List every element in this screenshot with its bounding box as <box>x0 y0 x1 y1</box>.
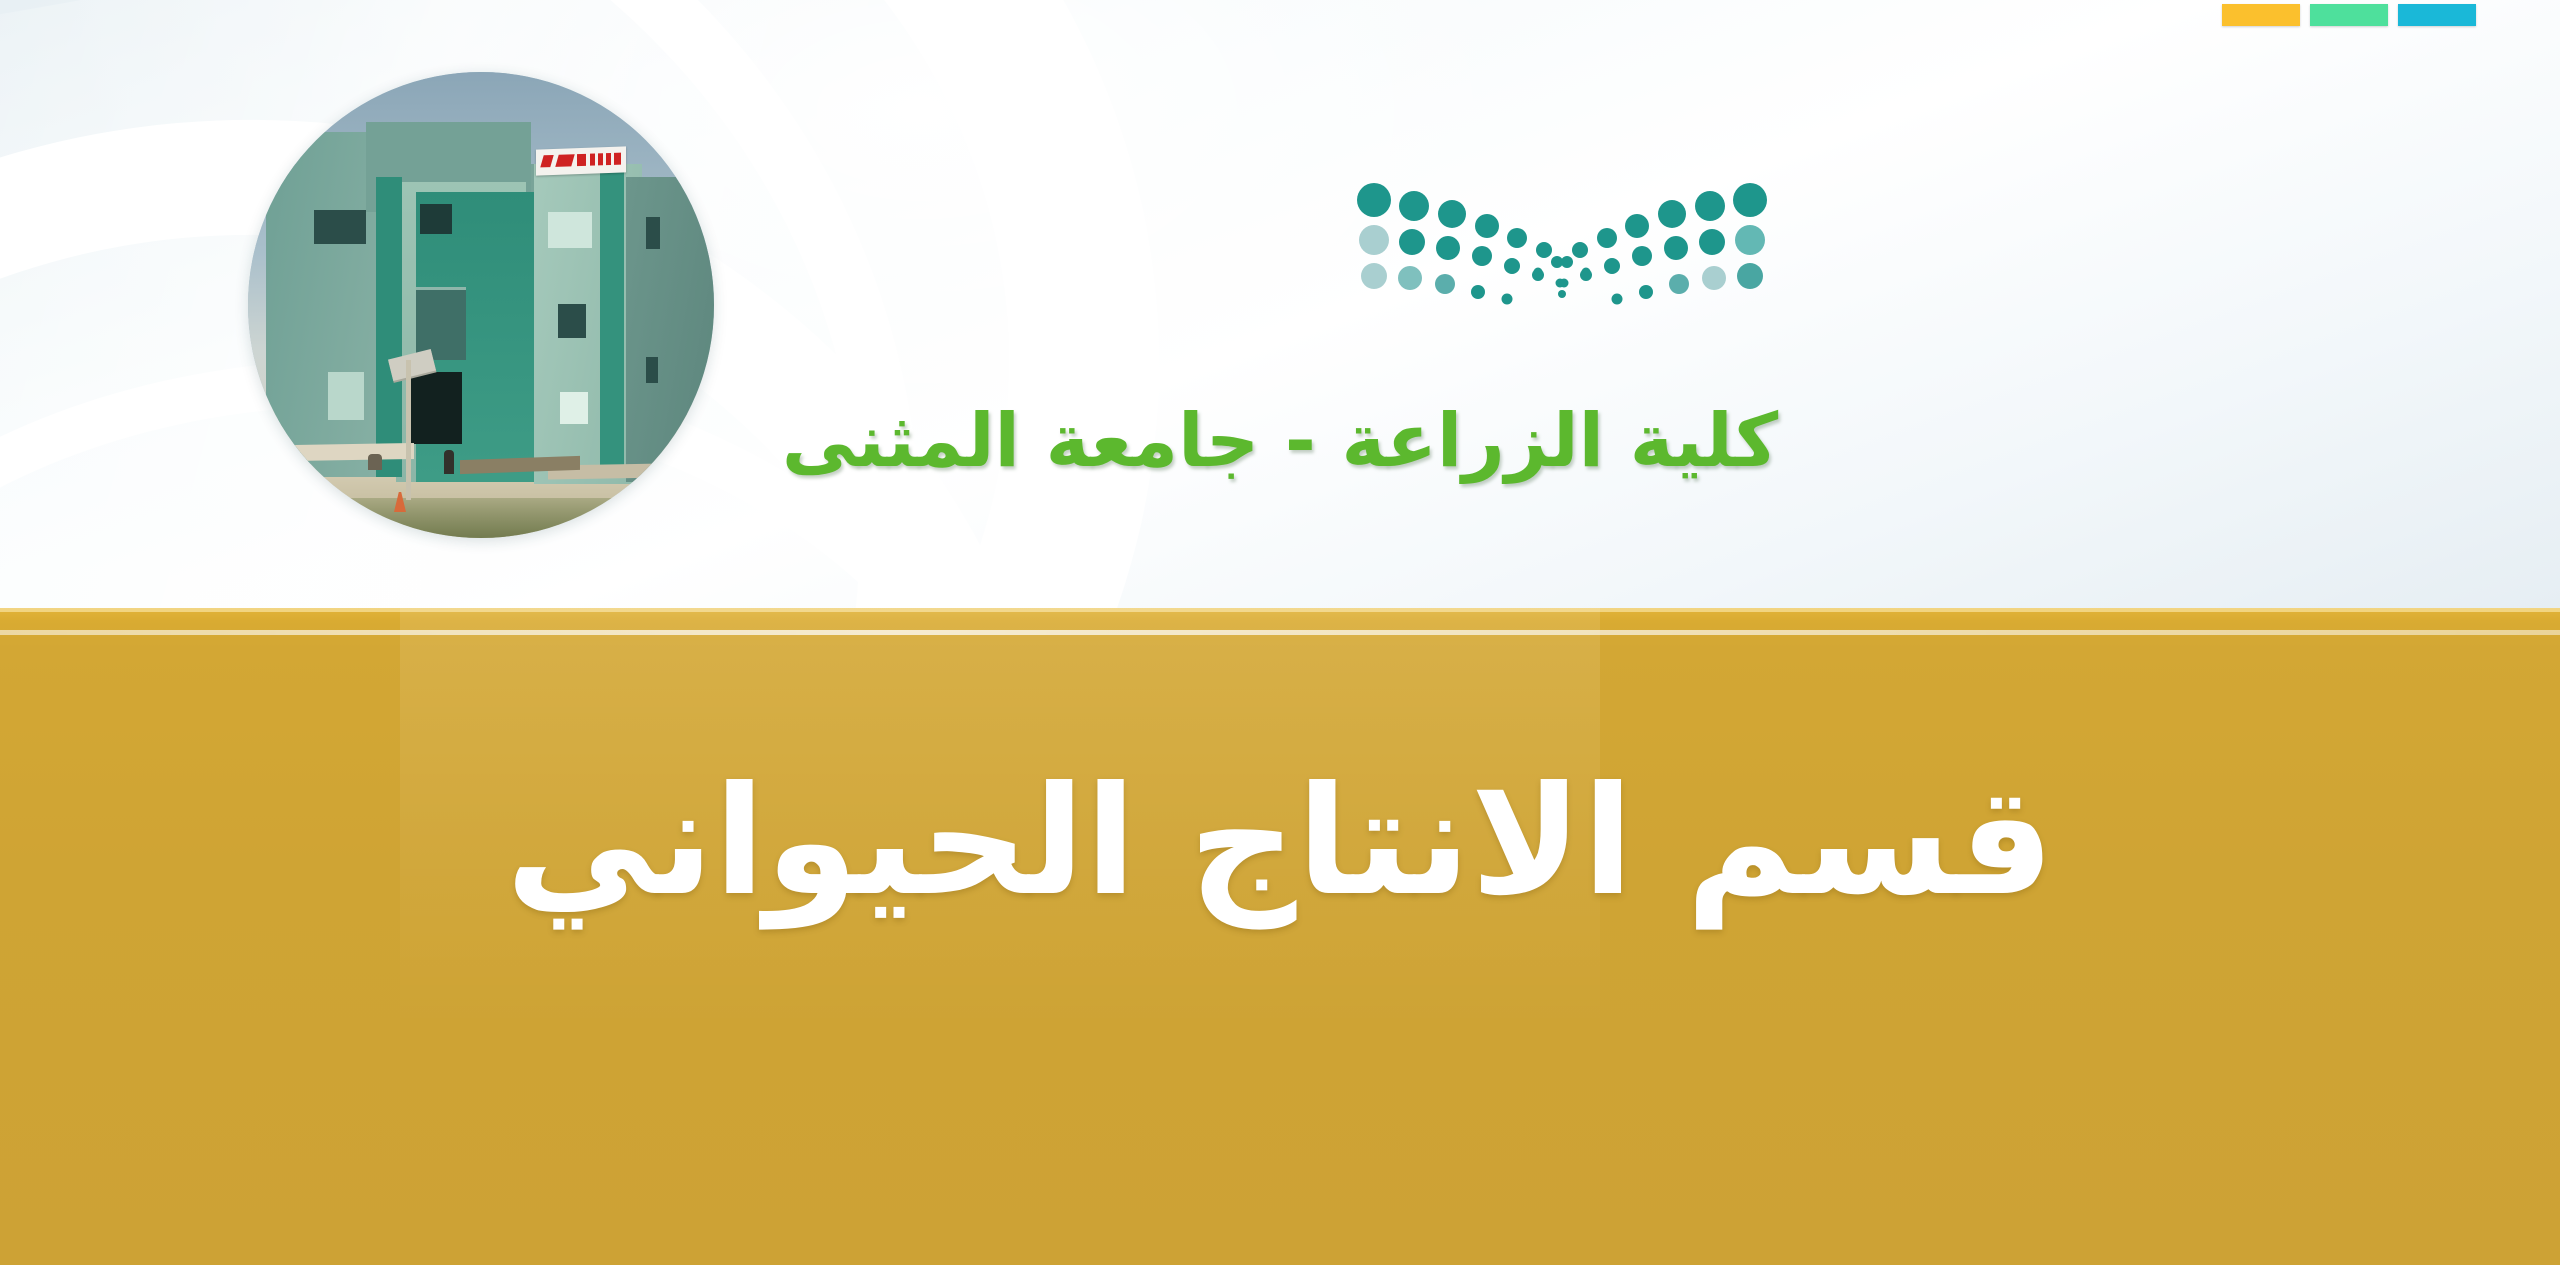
color-chip-group <box>2222 4 2476 26</box>
building-window <box>646 217 660 249</box>
chip-cyan-icon <box>2398 4 2476 26</box>
ministry-dots-logo-icon <box>1352 176 1772 306</box>
photo-grass <box>248 498 714 538</box>
chip-yellow-icon <box>2222 4 2300 26</box>
gold-title-band: قسم الانتاج الحيواني <box>0 608 2560 1265</box>
building-window <box>548 212 592 248</box>
chip-green-icon <box>2310 4 2388 26</box>
building-window <box>646 357 658 383</box>
building-window <box>314 210 366 244</box>
building-stairwell-glass <box>416 287 466 360</box>
title-slide: كلية الزراعة - جامعة المثنى قسم الانتاج … <box>0 0 2560 1265</box>
building-red-sign <box>536 146 626 175</box>
building-window <box>558 304 586 338</box>
gold-band-shine-line <box>0 630 2560 635</box>
building-window <box>420 204 452 234</box>
college-subtitle: كلية الزراعة - جامعة المثنى <box>0 398 2560 484</box>
gold-band-top-highlight <box>0 608 2560 612</box>
department-title: قسم الانتاج الحيواني <box>0 758 2560 926</box>
